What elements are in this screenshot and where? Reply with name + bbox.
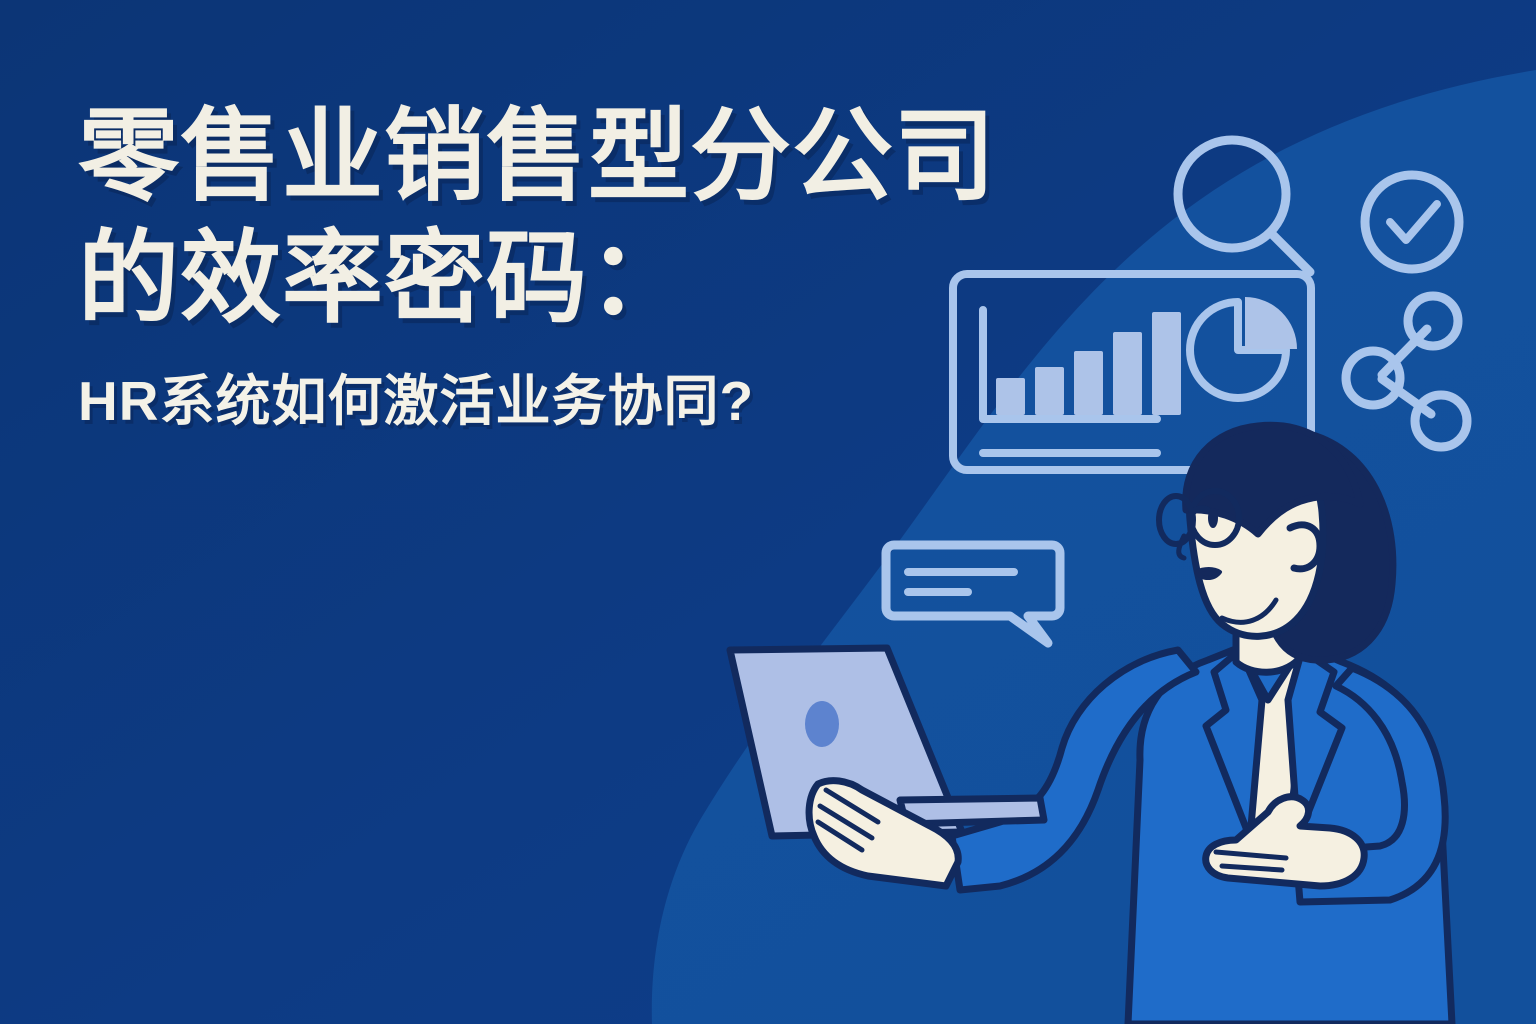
hero-banner: 零售业销售型分公司 的效率密码： HR系统如何激活业务协同?: [0, 0, 1536, 1024]
headline-block: 零售业销售型分公司 的效率密码： HR系统如何激活业务协同?: [78, 96, 978, 434]
laptop-logo: [805, 701, 839, 747]
eye: [1208, 508, 1218, 528]
title-line-1: 零售业销售型分公司: [78, 96, 978, 218]
nose: [1179, 536, 1184, 558]
mouth: [1196, 569, 1220, 578]
ear: [1290, 525, 1320, 569]
subtitle: HR系统如何激活业务协同?: [78, 368, 978, 434]
title-line-2: 的效率密码：: [78, 218, 978, 340]
